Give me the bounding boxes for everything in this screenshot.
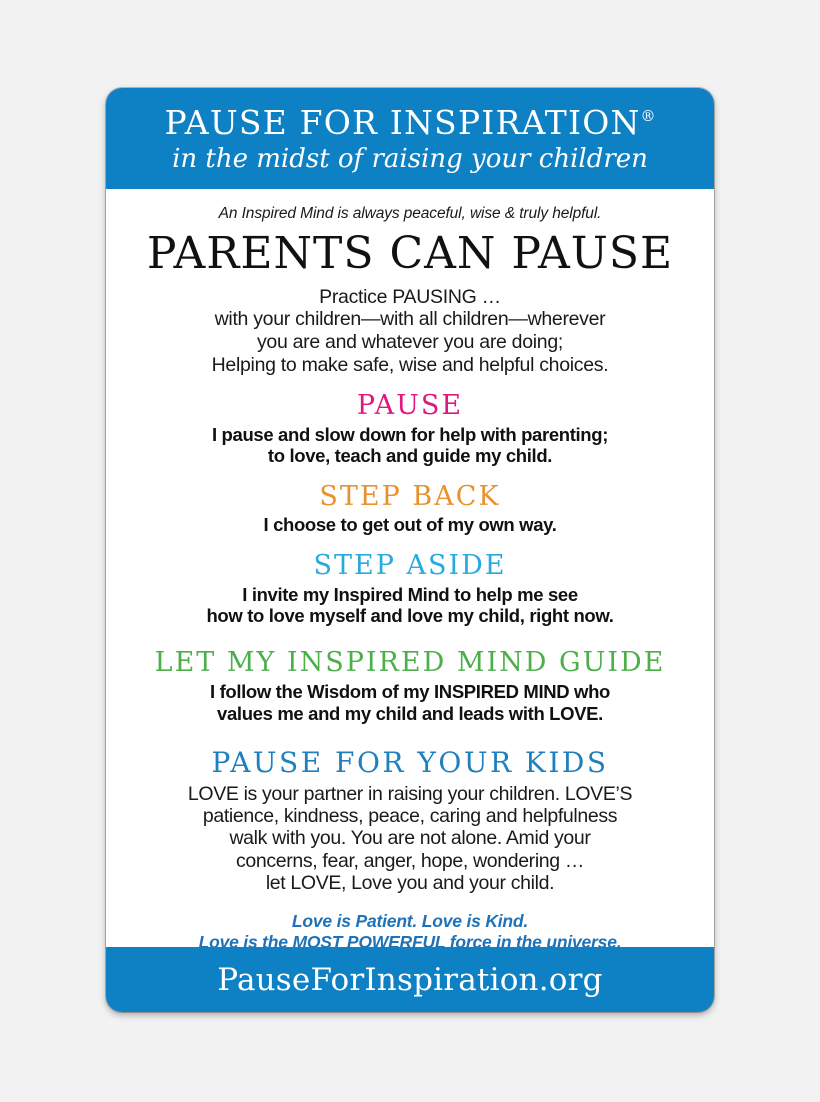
website-url-link[interactable]: PauseForInspiration.org bbox=[217, 962, 602, 998]
intro-line: Practice PAUSING … bbox=[122, 286, 698, 309]
step-heading-step-aside: STEP ASIDE bbox=[122, 551, 698, 581]
closing-line: Love is Patient. Love is Kind. bbox=[122, 911, 698, 932]
step-line: values me and my child and leads with LO… bbox=[122, 703, 698, 724]
intro-paragraph: Practice PAUSING … with your children—wi… bbox=[122, 286, 698, 376]
step-line: how to love myself and love my child, ri… bbox=[122, 605, 698, 626]
card-footer: PauseForInspiration.org bbox=[106, 947, 714, 1012]
step-line: I follow the Wisdom of my INSPIRED MIND … bbox=[122, 681, 698, 702]
kids-line: patience, kindness, peace, caring and he… bbox=[122, 805, 698, 827]
card-body: An Inspired Mind is always peaceful, wis… bbox=[106, 189, 714, 965]
tagline: An Inspired Mind is always peaceful, wis… bbox=[122, 205, 698, 224]
step-block-step-aside: STEP ASIDE I invite my Inspired Mind to … bbox=[122, 551, 698, 627]
registered-trademark-icon: ® bbox=[641, 107, 656, 125]
step-body-step-back: I choose to get out of my own way. bbox=[122, 514, 698, 535]
brand-subtitle: in the midst of raising your children bbox=[116, 145, 704, 175]
step-block-step-back: STEP BACK I choose to get out of my own … bbox=[122, 482, 698, 536]
step-line: I pause and slow down for help with pare… bbox=[122, 424, 698, 445]
intro-line: with your children—with all children—whe… bbox=[122, 308, 698, 331]
step-block-pause: PAUSE I pause and slow down for help wit… bbox=[122, 391, 698, 467]
step-heading-step-back: STEP BACK bbox=[122, 482, 698, 512]
brand-title-text: PAUSE FOR INSPIRATION bbox=[164, 103, 640, 142]
inspiration-card: PAUSE FOR INSPIRATION® in the midst of r… bbox=[106, 88, 714, 1012]
kids-line: walk with you. You are not alone. Amid y… bbox=[122, 827, 698, 849]
page-title: PARENTS CAN PAUSE bbox=[122, 229, 698, 278]
card-header: PAUSE FOR INSPIRATION® in the midst of r… bbox=[106, 88, 714, 189]
step-line: I choose to get out of my own way. bbox=[122, 514, 698, 535]
step-heading-let-my-inspired-mind-guide: LET MY INSPIRED MIND GUIDE bbox=[122, 648, 698, 678]
kids-paragraph: LOVE is your partner in raising your chi… bbox=[122, 783, 698, 894]
kids-line: concerns, fear, anger, hope, wondering … bbox=[122, 850, 698, 872]
step-body-let-my-inspired-mind-guide: I follow the Wisdom of my INSPIRED MIND … bbox=[122, 681, 698, 724]
kids-line: let LOVE, Love you and your child. bbox=[122, 872, 698, 894]
step-body-step-aside: I invite my Inspired Mind to help me see… bbox=[122, 584, 698, 627]
step-body-pause: I pause and slow down for help with pare… bbox=[122, 424, 698, 467]
intro-line: you are and whatever you are doing; bbox=[122, 331, 698, 354]
kids-line: LOVE is your partner in raising your chi… bbox=[122, 783, 698, 805]
brand-title: PAUSE FOR INSPIRATION® bbox=[116, 106, 704, 141]
step-line: to love, teach and guide my child. bbox=[122, 445, 698, 466]
step-heading-pause: PAUSE bbox=[122, 391, 698, 421]
intro-line: Helping to make safe, wise and helpful c… bbox=[122, 354, 698, 377]
step-heading-pause-for-your-kids: PAUSE FOR YOUR KIDS bbox=[122, 748, 698, 779]
step-block-pause-for-your-kids: PAUSE FOR YOUR KIDS LOVE is your partner… bbox=[122, 748, 698, 894]
step-block-let-my-inspired-mind-guide: LET MY INSPIRED MIND GUIDE I follow the … bbox=[122, 648, 698, 724]
step-line: I invite my Inspired Mind to help me see bbox=[122, 584, 698, 605]
